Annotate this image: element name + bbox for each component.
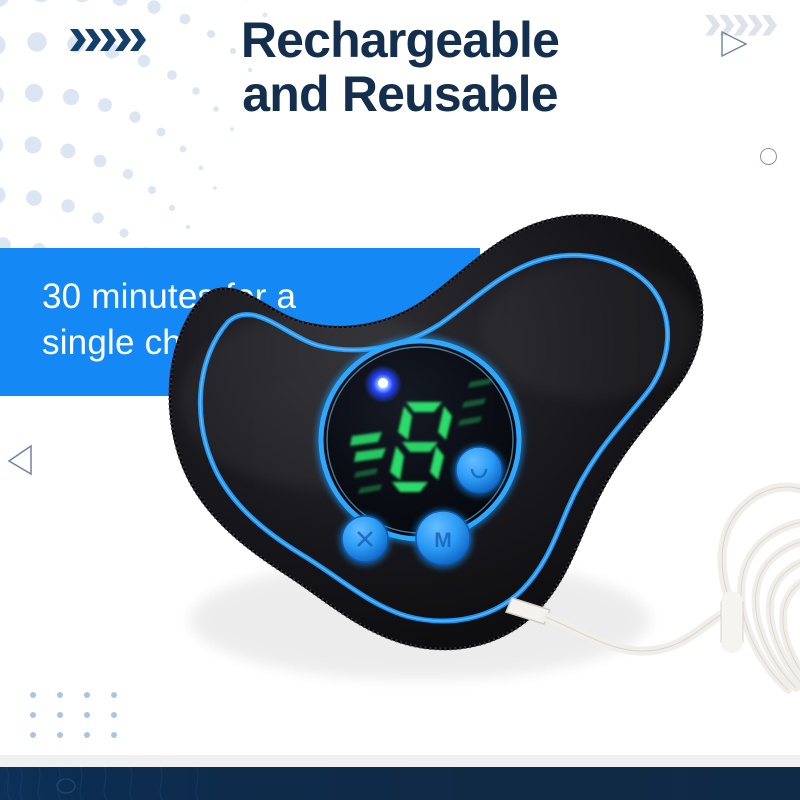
intensity-button[interactable] xyxy=(339,514,391,566)
led-indicator xyxy=(364,365,402,403)
footer-separator xyxy=(0,755,800,767)
power-button[interactable] xyxy=(453,445,505,497)
triangle-right-outline-icon xyxy=(719,30,749,58)
dot-grid-icon xyxy=(30,692,120,740)
svg-text:M: M xyxy=(434,529,452,552)
product-image-ems-massager: M xyxy=(120,150,800,750)
mode-button[interactable]: M xyxy=(413,509,473,569)
footer-texture xyxy=(0,767,300,800)
promo-image-canvas: Rechargeable and Reusable 30 minutes for… xyxy=(0,0,800,800)
title-line-1: Rechargeable xyxy=(241,12,559,68)
footer-band xyxy=(0,767,800,800)
triangle-left-outline-icon xyxy=(6,443,34,477)
title-line-2: and Reusable xyxy=(120,68,680,122)
page-title: Rechargeable and Reusable xyxy=(120,14,680,121)
